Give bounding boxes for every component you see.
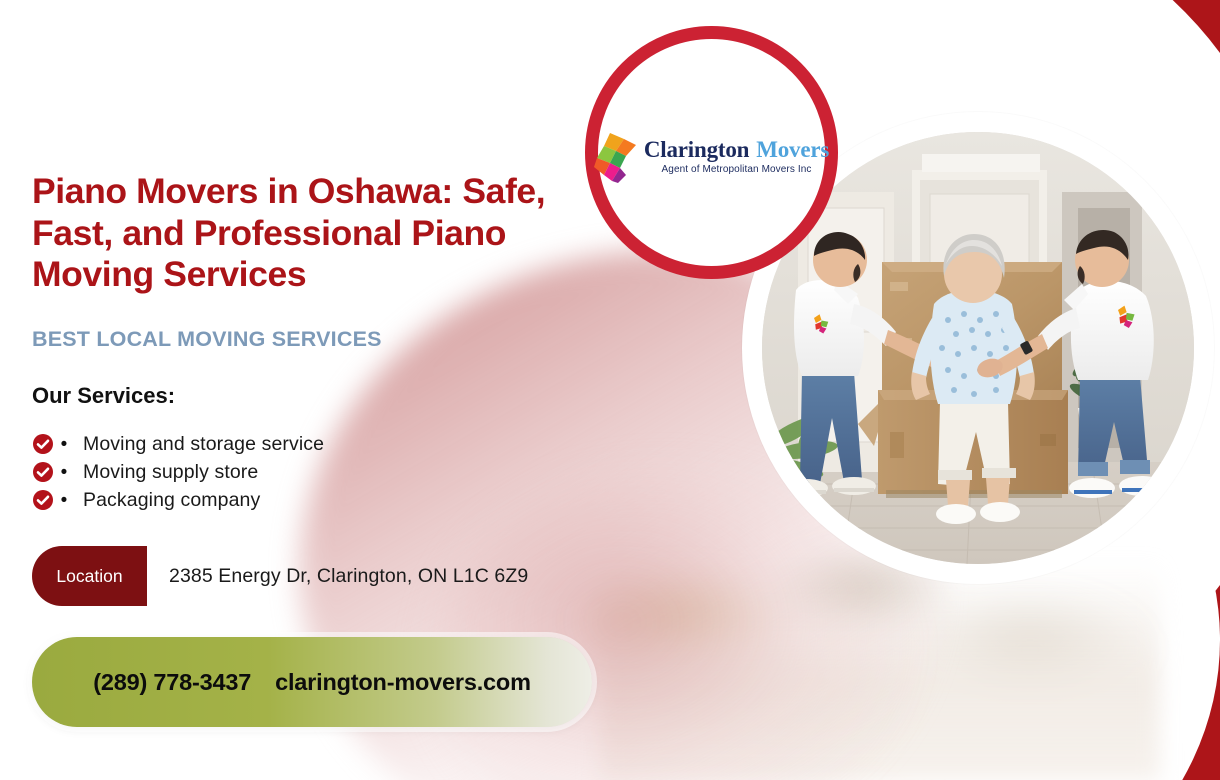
bullet-dot-icon: • xyxy=(53,435,75,454)
check-circle-icon xyxy=(32,461,54,483)
service-label: Moving and storage service xyxy=(83,433,324,456)
bullet-dot-icon: • xyxy=(53,463,75,482)
service-label: Packaging company xyxy=(83,489,260,512)
check-circle-icon xyxy=(32,433,54,455)
website-url[interactable]: clarington-movers.com xyxy=(275,669,531,696)
logo-name-secondary: Movers xyxy=(756,138,829,161)
location-badge: Location xyxy=(32,546,147,606)
list-item: • Packaging company xyxy=(32,486,324,514)
services-list: • Moving and storage service • Moving su… xyxy=(32,430,324,514)
services-heading: Our Services: xyxy=(32,383,175,409)
promo-banner: Clarington Movers Agent of Metropolitan … xyxy=(0,0,1220,780)
content-column: Piano Movers in Oshawa: Safe, Fast, and … xyxy=(32,0,632,780)
logo-tagline: Agent of Metropolitan Movers Inc xyxy=(644,165,829,175)
location-row: Location 2385 Energy Dr, Clarington, ON … xyxy=(32,546,528,606)
bullet-dot-icon: • xyxy=(53,491,75,510)
list-item: • Moving and storage service xyxy=(32,430,324,458)
location-address: 2385 Energy Dr, Clarington, ON L1C 6Z9 xyxy=(169,565,528,588)
service-label: Moving supply store xyxy=(83,461,258,484)
logo-name-primary: Clarington xyxy=(644,138,749,161)
phone-number[interactable]: (289) 778-3437 xyxy=(93,669,251,696)
contact-bar[interactable]: (289) 778-3437 clarington-movers.com xyxy=(32,637,592,727)
subtitle: BEST LOCAL MOVING SERVICES xyxy=(32,327,382,352)
list-item: • Moving supply store xyxy=(32,458,324,486)
check-circle-icon xyxy=(32,489,54,511)
page-title: Piano Movers in Oshawa: Safe, Fast, and … xyxy=(32,171,604,296)
